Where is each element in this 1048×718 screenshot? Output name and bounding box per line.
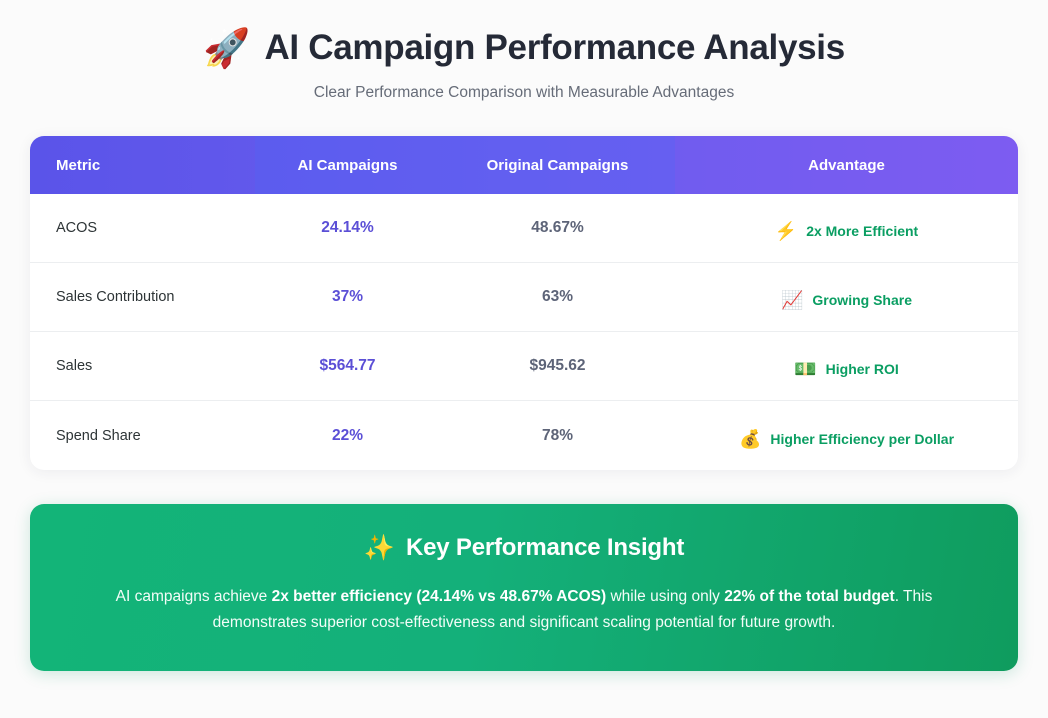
insight-bold-2: 22% of the total budget xyxy=(724,588,895,605)
table-row: Spend Share 22% 78% 💰 Higher Efficiency … xyxy=(30,401,1018,470)
column-header-metric: Metric xyxy=(30,136,255,194)
chart-increasing-icon: 📈 xyxy=(781,291,803,309)
metric-label: Sales Contribution xyxy=(56,289,175,305)
ai-value: 22% xyxy=(332,427,363,445)
insight-title-row: ✨ Key Performance Insight xyxy=(90,534,958,562)
key-insight-panel: ✨ Key Performance Insight AI campaigns a… xyxy=(30,504,1018,671)
table-row: Sales $564.77 $945.62 💵 Higher ROI xyxy=(30,332,1018,401)
ai-value: $564.77 xyxy=(319,357,375,375)
original-value: 48.67% xyxy=(531,219,584,237)
table-header-row: Metric AI Campaigns Original Campaigns A… xyxy=(30,136,1018,194)
lightning-bolt-icon: ⚡ xyxy=(775,222,797,240)
sparkles-icon: ✨ xyxy=(364,536,395,561)
ai-value: 37% xyxy=(332,288,363,306)
original-value: 78% xyxy=(542,427,573,445)
advantage-badge: ⚡ 2x More Efficient xyxy=(775,222,918,240)
advantage-badge: 💵 Higher ROI xyxy=(794,360,899,378)
advantage-label: Higher Efficiency per Dollar xyxy=(770,431,954,447)
money-bag-icon: 💰 xyxy=(739,430,761,448)
table-row: ACOS 24.14% 48.67% ⚡ 2x More Efficient xyxy=(30,194,1018,263)
column-header-ai: AI Campaigns xyxy=(255,136,440,194)
banknote-icon: 💵 xyxy=(794,360,816,378)
advantage-label: Growing Share xyxy=(812,292,912,308)
insight-text-1: AI campaigns achieve xyxy=(116,588,272,605)
metric-label: Spend Share xyxy=(56,428,141,444)
metric-label: ACOS xyxy=(56,220,97,236)
page-root: 🚀 AI Campaign Performance Analysis Clear… xyxy=(0,0,1048,718)
advantage-label: 2x More Efficient xyxy=(806,223,918,239)
original-value: 63% xyxy=(542,288,573,306)
insight-title: Key Performance Insight xyxy=(406,534,684,562)
page-header: 🚀 AI Campaign Performance Analysis Clear… xyxy=(30,0,1018,102)
page-subtitle: Clear Performance Comparison with Measur… xyxy=(30,84,1018,102)
rocket-icon: 🚀 xyxy=(203,30,250,68)
table-row: Sales Contribution 37% 63% 📈 Growing Sha… xyxy=(30,263,1018,332)
original-value: $945.62 xyxy=(529,357,585,375)
metric-label: Sales xyxy=(56,358,92,374)
column-header-advantage: Advantage xyxy=(675,136,1018,194)
ai-value: 24.14% xyxy=(321,219,374,237)
page-title: AI Campaign Performance Analysis xyxy=(264,28,844,68)
insight-body: AI campaigns achieve 2x better efficienc… xyxy=(90,584,958,637)
comparison-table: Metric AI Campaigns Original Campaigns A… xyxy=(30,136,1018,470)
advantage-badge: 💰 Higher Efficiency per Dollar xyxy=(739,430,954,448)
advantage-label: Higher ROI xyxy=(826,361,899,377)
advantage-badge: 📈 Growing Share xyxy=(781,291,912,309)
column-header-original: Original Campaigns xyxy=(440,136,675,194)
insight-text-2: while using only xyxy=(606,588,724,605)
title-row: 🚀 AI Campaign Performance Analysis xyxy=(30,28,1018,68)
insight-bold-1: 2x better efficiency (24.14% vs 48.67% A… xyxy=(272,588,607,605)
